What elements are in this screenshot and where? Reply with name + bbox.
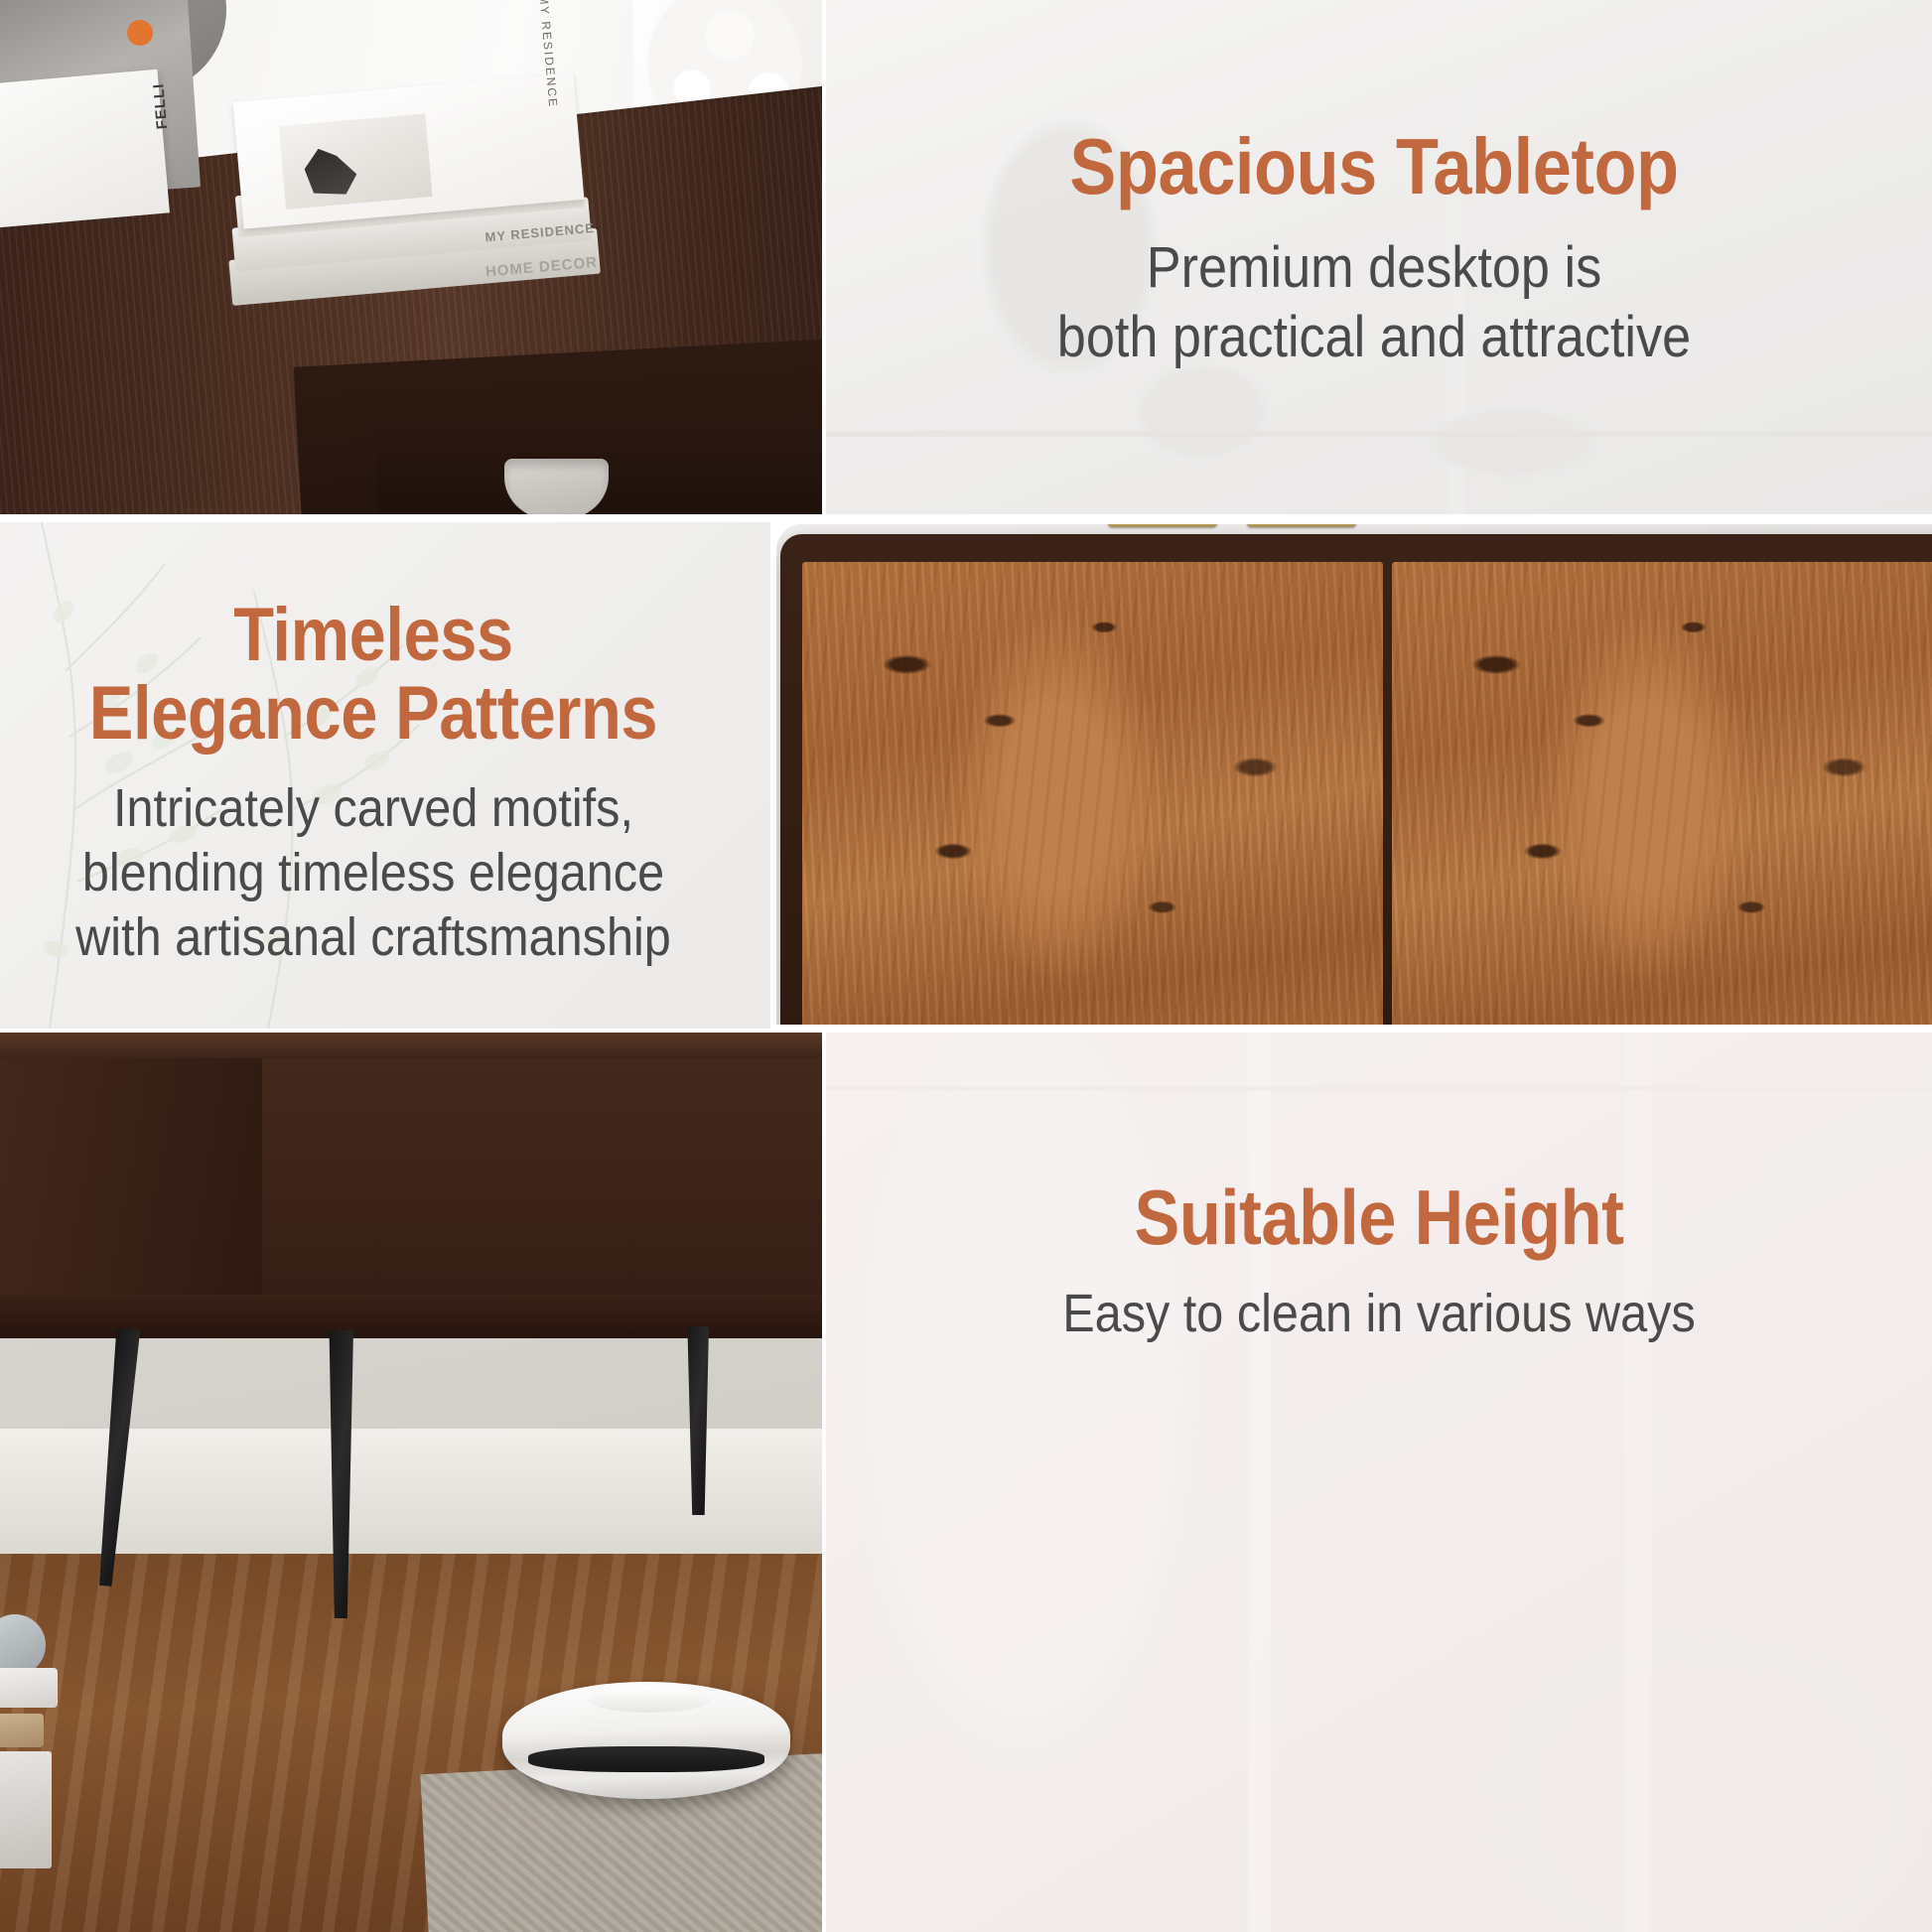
art-label-in-the: IN THE	[0, 0, 1, 7]
ceramic-cup	[504, 459, 609, 514]
timeless-elegance-body-line-3: with artisanal craftsmanship	[38, 905, 710, 970]
cabinet-top-surface	[0, 1033, 822, 1058]
robot-vacuum-sensor-band	[528, 1746, 764, 1772]
timeless-elegance-heading: Timeless Elegance Patterns	[45, 596, 702, 753]
tabletop-photo-panel: IN THE FELLI MY RESIDENCE MY RESIDENCE H…	[0, 0, 822, 514]
book-cover-image	[279, 113, 433, 209]
framed-art-white: FELLI	[0, 69, 170, 229]
spacious-tabletop-text-block: Spacious Tabletop Premium desktop is bot…	[826, 125, 1922, 371]
decor-object-tall	[0, 1751, 52, 1868]
brass-handle-left	[1108, 524, 1217, 527]
cabinet-side-panel	[0, 1033, 262, 1330]
background-ledge-line	[826, 1086, 1932, 1091]
timeless-elegance-heading-line-2: Elegance Patterns	[45, 674, 702, 753]
product-feature-infographic: IN THE FELLI MY RESIDENCE MY RESIDENCE H…	[0, 0, 1932, 1932]
spacious-tabletop-heading: Spacious Tabletop	[892, 125, 1857, 207]
decor-object-wood	[0, 1714, 44, 1747]
timeless-elegance-heading-line-1: Timeless	[45, 596, 702, 674]
robot-vacuum-top-panel	[589, 1687, 710, 1713]
cabinet-door-group	[802, 562, 1932, 1025]
background-shelf-line	[826, 431, 1932, 437]
suitable-height-heading: Suitable Height	[893, 1177, 1865, 1258]
brass-handle-right	[1247, 524, 1356, 527]
suitable-height-text-block: Suitable Height Easy to clean in various…	[826, 1177, 1932, 1346]
decor-object-box	[0, 1668, 58, 1708]
cabinet-door-right	[1392, 562, 1932, 1025]
suitable-height-panel: Suitable Height Easy to clean in various…	[826, 1033, 1932, 1932]
orange-dot-accent	[127, 20, 153, 46]
cabinet-legs-photo-panel	[0, 1033, 822, 1932]
spacious-tabletop-body-line-1: Premium desktop is	[881, 233, 1867, 303]
timeless-elegance-body: Intricately carved motifs, blending time…	[38, 776, 710, 969]
cabinet-doors-photo-panel	[776, 524, 1932, 1025]
timeless-elegance-text-block: Timeless Elegance Patterns Intricately c…	[0, 596, 747, 969]
spacious-tabletop-panel: Spacious Tabletop Premium desktop is bot…	[826, 0, 1932, 514]
timeless-elegance-body-line-1: Intricately carved motifs,	[38, 776, 710, 841]
cabinet-frame	[780, 534, 1932, 1025]
blurred-curtain-background	[826, 1033, 1932, 1932]
robot-vacuum	[502, 1682, 790, 1799]
book-stack: MY RESIDENCE MY RESIDENCE HOME DECOR	[215, 79, 606, 370]
cabinet-door-wide	[260, 1058, 677, 1295]
timeless-elegance-panel: Timeless Elegance Patterns Intricately c…	[0, 522, 770, 1029]
cabinet-door-left	[802, 562, 1383, 1025]
spacious-tabletop-body: Premium desktop is both practical and at…	[881, 233, 1867, 371]
cabinet-door-narrow	[683, 1058, 822, 1295]
timeless-elegance-body-line-2: blending timeless elegance	[38, 841, 710, 905]
suitable-height-body: Easy to clean in various ways	[882, 1282, 1877, 1346]
spacious-tabletop-body-line-2: both practical and attractive	[881, 303, 1867, 372]
